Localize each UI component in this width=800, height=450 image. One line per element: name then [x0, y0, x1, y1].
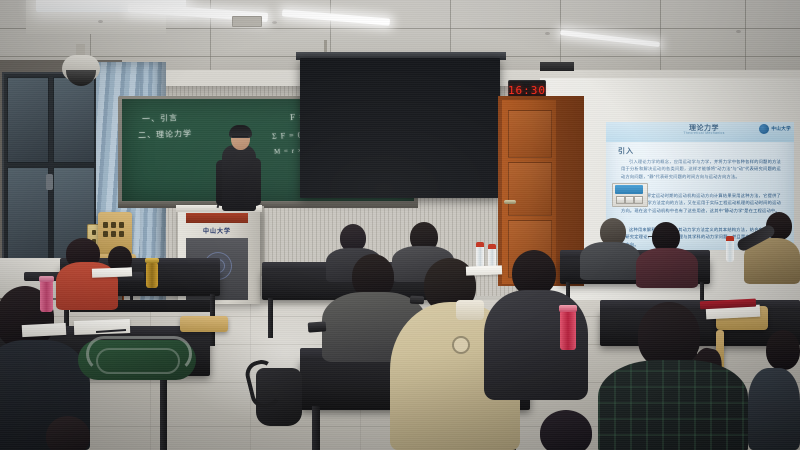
bag-handle-2 [96, 348, 180, 374]
bottle-cap-3 [726, 236, 734, 241]
attendee-glasses-icon [648, 236, 664, 241]
pink-thermos-2[interactable] [560, 310, 576, 350]
door-handle[interactable] [504, 200, 516, 204]
thermos-lid [39, 276, 54, 282]
clock-time: 16:30 [508, 84, 546, 97]
pink-thermos[interactable] [40, 280, 53, 312]
thermos-lid-2 [559, 305, 577, 312]
gold-thermos[interactable] [146, 262, 158, 288]
slide-heading: 引入 [618, 146, 634, 156]
control-panel-display [615, 185, 643, 194]
lectern-red-band [186, 213, 248, 223]
lecturer-body [222, 145, 256, 211]
lecture-hall-photo: 一、引言 二、理论力学 F = ma Σ F = 0 M = r × F 理论力… [0, 0, 800, 450]
chalk-tray [118, 201, 418, 208]
water-bottle-3[interactable] [726, 240, 734, 262]
slide-paragraph-1: 引入理论力学的概念，应用运动学与力学，并将力学中各种各样的问题的方法用于分析和解… [621, 158, 781, 180]
jacket-button [452, 336, 470, 354]
lectern-institution-name: 中山大学 [186, 226, 248, 235]
smartphone-on-desk[interactable] [308, 321, 327, 332]
chair-beige-center[interactable] [180, 316, 228, 332]
bottle-cap [476, 242, 484, 247]
handout-paper-4[interactable] [466, 265, 502, 275]
wall-speaker [540, 62, 574, 71]
control-switch-1[interactable] [616, 196, 625, 204]
smartphone-on-desk-2[interactable] [410, 296, 424, 305]
ceiling-vent [232, 16, 262, 27]
chalk-eq-2: Σ F = 0 [272, 130, 303, 141]
bottle-cap-2 [488, 244, 496, 249]
control-switch-2[interactable] [625, 196, 634, 204]
control-switch-3[interactable] [634, 196, 643, 204]
university-logo-icon [759, 124, 769, 134]
chalk-line-1: 一、引言 [142, 112, 178, 124]
handout-paper-3[interactable] [92, 267, 132, 277]
chalk-line-2: 二、理论力学 [138, 128, 192, 141]
slide-subtitle: Theoretical Mechanics [654, 131, 754, 135]
gold-thermos-lid [145, 258, 159, 263]
slide-logo-text: 中山大学 [771, 126, 791, 132]
shirt-collar [456, 300, 484, 320]
projection-screen: 理论力学 Theoretical Mechanics 中山大学 引入 引入理论力… [300, 58, 500, 198]
water-bottle[interactable] [476, 246, 484, 268]
handout-paper[interactable] [22, 323, 67, 337]
slide-university-logo: 中山大学 [759, 124, 791, 134]
lecturer-glasses-icon [232, 136, 248, 141]
